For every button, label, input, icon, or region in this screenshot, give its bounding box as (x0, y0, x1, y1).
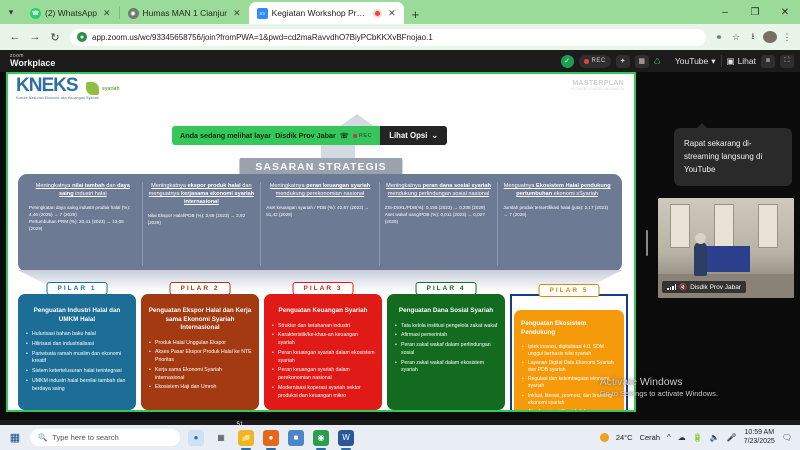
syariah-mark-icon (86, 82, 99, 95)
task-view-icon[interactable]: ▦ (213, 430, 229, 446)
list-item: Iptek inovasi, digitalisasi 4.0, SDM ung… (528, 344, 617, 358)
clock-date: 7/23/2025 (744, 438, 775, 446)
globe-icon: ◉ (128, 8, 139, 19)
list-item: Modernisasi koperasi syariah sektor prod… (278, 385, 375, 401)
pillar-item-list: Tata kelola institusi pengelola zakat wa… (394, 323, 498, 378)
tab-recording-indicator-icon (373, 9, 382, 18)
extensions-icon[interactable]: ⚭ (712, 32, 726, 43)
taskbar-clock[interactable]: 10:59 AM 7/23/2025 (744, 429, 775, 446)
site-info-icon[interactable]: ● (77, 32, 87, 42)
view-button[interactable]: ▣ Lihat (727, 56, 756, 67)
view-label: Lihat (738, 56, 756, 66)
pillar-3: PILAR 3 Penguatan Keuangan Syariah Struk… (264, 282, 382, 410)
pillar-card: Penguatan Industri Halal dan UMKM Halal … (18, 294, 136, 410)
pillar-card: Penguatan Ekspor Halal dan Kerja sama Ek… (141, 294, 259, 410)
watermark-subtitle: Go to Settings to activate Windows. (600, 389, 718, 398)
pillar-tag: PILAR 1 (47, 282, 108, 295)
kneks-logo-subtitle: Komite Nasional Ekonomi dan Keuangan Sya… (16, 96, 99, 100)
participant-video-thumbnail[interactable]: 🔇 Disdik Prov Jabar (658, 198, 794, 298)
file-explorer-icon[interactable]: 📁 (238, 430, 254, 446)
ai-sparkle-icon[interactable]: ✦ (616, 55, 630, 68)
goal-body: Nilai Ekspor Halal/PDB (%): 3,69 (2023) … (148, 213, 256, 227)
chevron-down-icon: ▾ (711, 56, 715, 67)
youtube-stream-menu[interactable]: YouTube ▾ (675, 56, 716, 67)
recording-indicator[interactable]: REC (579, 55, 611, 68)
list-item: Struktur dan ketahanan industri (278, 323, 375, 331)
goal-title: Menguatnya Ekosistem Halal pendukung per… (503, 182, 611, 198)
maximize-button[interactable]: ❐ (740, 7, 770, 18)
masterplan-logo-subtitle: EKONOMI SYARIAH INDONESIA (571, 87, 624, 91)
shared-screen-region: KNEKS Komite Nasional Ekonomi dan Keuang… (6, 72, 636, 412)
list-item: Pariwisata ramah muslim dan ekonomi krea… (32, 351, 129, 367)
pillar-tag: PILAR 5 (539, 284, 600, 297)
list-item: Peran keuangan syariah dalam ekosistem s… (278, 350, 375, 366)
zoom-icon: zm (257, 8, 268, 19)
goal-item: Meningkatnya nilai tambah dan daya saing… (24, 182, 143, 266)
divider (721, 55, 722, 67)
view-options-button[interactable]: Lihat Opsi ⌄ (380, 126, 447, 145)
slide-header: KNEKS Komite Nasional Ekonomi dan Keuang… (8, 74, 634, 110)
pillars-row: PILAR 1 Penguatan Industri Halal dan UMK… (18, 282, 628, 410)
tab-title: (2) WhatsApp (45, 8, 97, 18)
tab-title: Kegiatan Workshop Progra (272, 8, 369, 18)
screen-root: ▾ ☎ (2) WhatsApp ✕ ◉ Humas MAN 1 Cianjur… (0, 0, 800, 450)
browser-tab-strip: ▾ ☎ (2) WhatsApp ✕ ◉ Humas MAN 1 Cianjur… (0, 0, 800, 24)
search-icon: 🔍 (38, 433, 47, 442)
tab-title: Humas MAN 1 Cianjur (143, 8, 228, 18)
view-options-label: Lihat Opsi (389, 131, 427, 140)
chrome-menu-icon[interactable]: ⋮ (780, 32, 794, 43)
list-item: Peran zakat wakaf dalam perlindungan sos… (401, 342, 498, 358)
masterplan-logo-text: MASTERPLAN (571, 80, 624, 87)
fullscreen-icon[interactable]: ⛶ (780, 55, 794, 68)
youtube-stream-tooltip: Rapat sekarang di-streaming langsung di … (674, 128, 792, 186)
profile-avatar[interactable] (763, 31, 777, 43)
chevron-down-icon: ⌄ (431, 131, 438, 140)
bookmark-star-icon[interactable]: ☆ (729, 32, 743, 43)
goal-title: Meningkatnya ekspor produk halal dan men… (148, 182, 256, 206)
pillar-tag: PILAR 3 (293, 282, 354, 295)
pillar-1: PILAR 1 Penguatan Industri Halal dan UMK… (18, 282, 136, 410)
volume-mute-icon[interactable]: 🔈 (710, 433, 720, 442)
close-window-button[interactable]: ✕ (770, 7, 800, 18)
pillar-item-list: Hulurisasi bahan baku halal Hilirisasi d… (25, 331, 129, 396)
encryption-shield-icon[interactable]: ✓ (561, 55, 574, 68)
goal-body: Aset keuangan syariah / PDB (%): 42,67 (… (266, 205, 374, 219)
list-item: UMKM industri halal bernilai tambah dan … (32, 378, 129, 394)
goal-title: Meningkatnya nilai tambah dan daya saing… (29, 182, 137, 198)
youtube-menu-label: YouTube (675, 56, 708, 66)
list-item: Karakteristik/ke-khas-an keuangan syaria… (278, 332, 375, 348)
presentation-slide: KNEKS Komite Nasional Ekonomi dan Keuang… (8, 74, 634, 410)
browser-tab-whatsapp[interactable]: ☎ (2) WhatsApp ✕ (22, 2, 119, 24)
tab-close-icon[interactable]: ✕ (101, 8, 113, 19)
firefox-icon[interactable]: ● (263, 430, 279, 446)
pillar-title: Penguatan Keuangan Syariah (271, 307, 375, 316)
toast-rec-label: REC (359, 133, 372, 139)
activate-windows-watermark: Activate Windows Go to Settings to activ… (600, 376, 718, 398)
record-dot-icon (584, 59, 589, 64)
list-item: Layanan Digital Data Ekonomi Syariah dan… (528, 360, 617, 374)
goal-body: ZIS-DSKL/PDB(%): 0,155 (2023) → 0,208 (2… (385, 205, 493, 226)
tab-close-icon[interactable]: ✕ (386, 8, 398, 19)
zoom-top-bar-actions: ✓ REC ✦ ▦ ♺ YouTube ▾ ▣ Lihat ⧈ (561, 55, 800, 68)
list-item: Sistem ketertelusuran halal terintegrasi (32, 368, 129, 376)
list-item: Afirmasi pemerintah (401, 332, 498, 340)
goal-item: Meningkatnya ekspor produk halal dan men… (143, 182, 262, 266)
strategic-goals-band: Meningkatnya nilai tambah dan daya saing… (18, 174, 622, 272)
pillar-4: PILAR 4 Penguatan Dana Sosial Syariah Ta… (387, 282, 505, 410)
gallery-view-icon[interactable]: ▦ (635, 55, 649, 68)
battery-icon[interactable]: 🔋 (693, 433, 703, 442)
masterplan-logo: MASTERPLAN EKONOMI SYARIAH INDONESIA (571, 80, 624, 91)
list-item: Peran zakat wakaf dalam ekosistem syaria… (401, 360, 498, 376)
person-shape (694, 242, 707, 276)
browser-omnibox-bar: ← → ↻ ● app.zoom.us/wc/93345658756/join?… (0, 24, 800, 50)
syariah-logo: syariah (86, 82, 120, 95)
cortana-icon[interactable]: ● (188, 430, 204, 446)
screen-share-toast: Anda sedang melihat layar Disdik Prov Ja… (172, 126, 447, 145)
windows-start-icon[interactable]: ▦ (0, 431, 30, 444)
table-shape (704, 246, 750, 272)
record-dot-icon (353, 134, 357, 138)
onedrive-icon[interactable]: ☁ (678, 433, 686, 442)
window-shape (714, 204, 734, 248)
minimize-button[interactable]: – (710, 7, 740, 18)
pillar-title: Penguatan Industri Halal dan UMKM Halal (25, 307, 129, 324)
pillar-title: Penguatan Ekspor Halal dan Kerja sama Ek… (148, 307, 252, 333)
goal-title: Meningkatnya peran keuangan syariah mend… (266, 182, 374, 198)
share-status-text: Anda sedang melihat layar (180, 131, 271, 140)
pillar-item-list: Produk Halal Unggulan Ekspor Akses Pasar… (148, 340, 252, 395)
goal-title: Meningkatnya peran dana sosial syariah m… (385, 182, 493, 198)
pillar-tag: PILAR 4 (416, 282, 477, 295)
minimize-icon[interactable]: ⧈ (761, 55, 775, 68)
person-head-shape (695, 233, 706, 244)
watermark-title: Activate Windows (600, 376, 718, 388)
goal-item: Menguatnya Ekosistem Halal pendukung per… (498, 182, 616, 266)
mic-muted-icon: 🔇 (679, 283, 687, 291)
weather-temp: 24°C (616, 433, 633, 442)
window-shape (670, 204, 690, 248)
address-bar-url: app.zoom.us/wc/93345658756/join?fromPWA=… (92, 33, 433, 42)
list-item: Tata kelola institusi pengelola zakat wa… (401, 323, 498, 331)
view-layout-icon: ▣ (727, 56, 735, 67)
zoom-logo: zoom Workplace (0, 54, 55, 68)
forward-button[interactable]: → (26, 31, 44, 43)
pillar-card: Penguatan Dana Sosial Syariah Tata kelol… (387, 294, 505, 410)
store-icon[interactable]: ■ (288, 430, 304, 446)
zoom-top-bar: zoom Workplace ✓ REC ✦ ▦ ♺ YouTube ▾ (0, 50, 800, 72)
list-item: Akses Pasar Ekspor Produk Halal ke NTE P… (155, 349, 252, 365)
back-button[interactable]: ← (6, 31, 24, 43)
list-item: Peran keuangan syariah dalam perekonomia… (278, 367, 375, 383)
panel-resize-handle[interactable] (646, 230, 648, 256)
tab-close-icon[interactable]: ✕ (231, 8, 243, 19)
list-item: Ekosistem Haji dan Umroh (155, 384, 252, 392)
pillar-2: PILAR 2 Penguatan Ekspor Halal dan Kerja… (141, 282, 259, 410)
chrome-icon[interactable]: ◉ (313, 430, 329, 446)
video-name-label: 🔇 Disdik Prov Jabar (662, 281, 746, 293)
taskbar-app-icons: ● ▦ 📁 ● ■ ◉ W (188, 430, 354, 446)
zoom-workplace-label: Workplace (10, 59, 55, 68)
pillar-item-list: Struktur dan ketahanan industri Karakter… (271, 323, 375, 403)
browser-tab-humas[interactable]: ◉ Humas MAN 1 Cianjur ✕ (120, 2, 249, 24)
list-item: Akselerasi sertifikasi halal (528, 409, 617, 412)
address-bar[interactable]: ● app.zoom.us/wc/93345658756/join?fromPW… (70, 29, 706, 46)
reload-button[interactable]: ↻ (46, 31, 64, 44)
search-placeholder: Type here to search (52, 433, 118, 442)
taskbar-system-tray: 24°C Cerah ^ ☁ 🔋 🔈 🎤 10:59 AM 7/23/2025 … (600, 429, 800, 446)
goal-body: Jumlah produk tersertifikasi halal (juta… (503, 205, 611, 219)
windows-taskbar: ▦ 🔍 Type here to search ● ▦ 📁 ● ■ ◉ W 24… (0, 425, 800, 450)
recording-label: REC (592, 58, 606, 64)
pillar-title: Penguatan Ekosistem Pendukung (521, 320, 617, 337)
share-status: Anda sedang melihat layar Disdik Prov Ja… (172, 126, 380, 145)
tab-list-chevron-icon[interactable]: ▾ (0, 0, 22, 24)
browser-tab-zoom-active[interactable]: zm Kegiatan Workshop Progra ✕ (249, 2, 404, 24)
participant-name: Disdik Prov Jabar (690, 284, 741, 291)
signal-icon: ♺ (654, 57, 661, 66)
whatsapp-icon: ☎ (30, 8, 41, 19)
download-icon[interactable]: ⭳ (746, 29, 760, 45)
omnibox-actions: ⚭ ☆ ⭳ ⋮ (712, 29, 794, 45)
list-item: Produk Halal Unggulan Ekspor (155, 340, 252, 348)
zoom-web-client: zoom Workplace ✓ REC ✦ ▦ ♺ YouTube ▾ (0, 50, 800, 450)
list-item: Hulurisasi bahan baku halal (32, 331, 129, 339)
notification-icon[interactable]: 🗨 (782, 433, 792, 442)
signal-bars-icon (667, 284, 676, 290)
weather-icon[interactable] (600, 433, 609, 442)
screen-share-icon: ☏ (340, 131, 349, 140)
clock-time: 10:59 AM (744, 429, 775, 437)
window-shape (758, 204, 778, 248)
presenter-name: Disdik Prov Jabar (275, 131, 336, 140)
taskbar-search-input[interactable]: 🔍 Type here to search (30, 429, 180, 446)
goal-item: Meningkatnya peran keuangan syariah mend… (261, 182, 380, 266)
syariah-logo-text: syariah (102, 86, 120, 92)
list-item: Hilirisasi dan industrialisasi (32, 341, 129, 349)
list-item: Kerja sama Ekonomi Syariah internasional (155, 367, 252, 383)
goal-body: Peningkatan daya saing industri produk h… (29, 205, 137, 233)
weather-desc: Cerah (640, 433, 660, 442)
pillar-tag: PILAR 2 (170, 282, 231, 295)
chevron-up-icon[interactable]: ^ (667, 433, 671, 442)
toast-recording-indicator: REC (353, 133, 372, 139)
pillar-card: Penguatan Keuangan Syariah Struktur dan … (264, 294, 382, 410)
mic-icon[interactable]: 🎤 (727, 433, 737, 442)
pillar-title: Penguatan Dana Sosial Syariah (394, 307, 498, 316)
goal-item: Meningkatnya peran dana sosial syariah m… (380, 182, 499, 266)
new-tab-button[interactable]: + (404, 7, 428, 24)
window-controls: – ❐ ✕ (710, 0, 800, 24)
word-icon[interactable]: W (338, 430, 354, 446)
